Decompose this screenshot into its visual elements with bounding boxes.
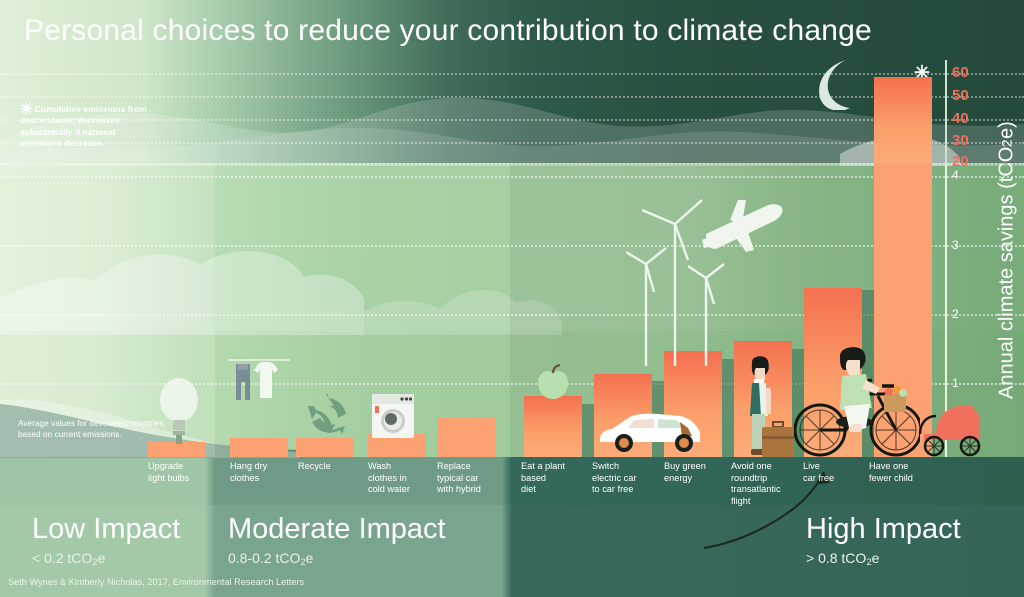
bar-label-have-one-fewer-child: Have one fewer child (869, 461, 941, 484)
axis-line-upper (945, 60, 947, 165)
axis-tick-3: 3 (952, 238, 959, 252)
gridline-20 (0, 163, 1024, 165)
average-values-note: Average values for developed countries, … (18, 418, 168, 440)
impact-moderate-range: 0.8-0.2 tCO2e (228, 548, 446, 573)
bar-label-buy-green-energy: Buy green energy (664, 461, 730, 484)
impact-high-title: High Impact (806, 512, 961, 546)
asterisk-footnote: ✳Cumulative emissions from descendants; … (20, 104, 155, 150)
impact-high-range: > 0.8 tCO2e (806, 548, 961, 573)
axis-tick-60: 60 (952, 64, 969, 81)
page-title: Personal choices to reduce your contribu… (24, 14, 872, 48)
impact-low-title: Low Impact (32, 512, 180, 546)
impact-high-range-pre: > 0.8 tCO (806, 550, 866, 566)
axis-tick-30: 30 (952, 132, 969, 149)
impact-low-range-post: e (98, 550, 106, 566)
bar-eat-plant-based-diet[interactable] (524, 396, 582, 457)
bar-label-recycle: Recycle (298, 461, 364, 473)
impact-low-range-pre: < 0.2 tCO (32, 550, 92, 566)
source-credit: Seth Wynes & Kimberly Nicholas, 2017, En… (8, 577, 304, 587)
impact-moderate-title: Moderate Impact (228, 512, 446, 546)
impact-moderate: Moderate Impact 0.8-0.2 tCO2e (228, 512, 446, 573)
bar-switch-electric-car-to-car-free[interactable] (594, 374, 652, 457)
impact-low-range: < 0.2 tCO2e (32, 548, 180, 573)
bar-label-live-car-free: Live car free (803, 461, 869, 484)
bar-label-eat-plant-based-diet: Eat a plant based diet (521, 461, 587, 496)
impact-high: High Impact > 0.8 tCO2e (806, 512, 961, 573)
bar-wash-clothes-cold-water[interactable] (368, 434, 426, 457)
axis-tick-2: 2 (952, 307, 959, 321)
bar-label-wash-clothes-cold-water: Wash clothes in cold water (368, 461, 434, 496)
y-axis-title-end: e) (996, 121, 1019, 139)
bar-label-replace-car-with-hybrid: Replace typical car with hybrid (437, 461, 503, 496)
axis-tick-1: 1 (952, 376, 959, 390)
bar-buy-green-energy[interactable] (664, 351, 722, 457)
impact-high-range-post: e (872, 550, 880, 566)
infographic-canvas: Personal choices to reduce your contribu… (0, 0, 1024, 597)
impact-moderate-range-pre: 0.8-0.2 tCO (228, 550, 300, 566)
impact-moderate-range-post: e (306, 550, 314, 566)
y-axis-title-main: Annual climate savings (tCO (996, 147, 1019, 399)
bar-label-switch-electric-car-to-car-free: Switch electric car to car free (592, 461, 658, 496)
axis-line-lower (945, 165, 947, 457)
axis-tick-40: 40 (952, 110, 969, 127)
bar-label-hang-dry-clothes: Hang dry clothes (230, 461, 296, 484)
y-axis-title-sub: 2 (1000, 139, 1015, 147)
gridline-60 (0, 73, 1024, 75)
bar-hang-dry-clothes[interactable] (230, 438, 288, 457)
bar-avoid-transatlantic-flight[interactable] (734, 341, 792, 457)
bar-label-upgrade-light-bulbs: Upgrade light bulbs (148, 461, 214, 484)
asterisk-footnote-text: Cumulative emissions from descendants; d… (20, 104, 147, 148)
axis-tick-4: 4 (952, 168, 959, 182)
impact-low: Low Impact < 0.2 tCO2e (32, 512, 180, 573)
bar-have-one-fewer-child-lower[interactable] (874, 163, 932, 457)
axis-tick-50: 50 (952, 87, 969, 104)
y-axis-title: Annual climate savings (tCO2e) (992, 60, 1022, 460)
gridline-50 (0, 96, 1024, 98)
bar-recycle[interactable] (296, 438, 354, 457)
bar-replace-car-with-hybrid[interactable] (437, 418, 495, 457)
bar-have-one-fewer-child-upper[interactable] (874, 77, 932, 163)
bar-label-avoid-transatlantic-flight: Avoid one roundtrip transatlantic flight (731, 461, 797, 507)
bar-live-car-free[interactable] (804, 288, 862, 457)
gridline-3 (0, 245, 1024, 247)
bar-upgrade-light-bulbs[interactable] (148, 442, 206, 457)
gridline-4 (0, 176, 1024, 178)
